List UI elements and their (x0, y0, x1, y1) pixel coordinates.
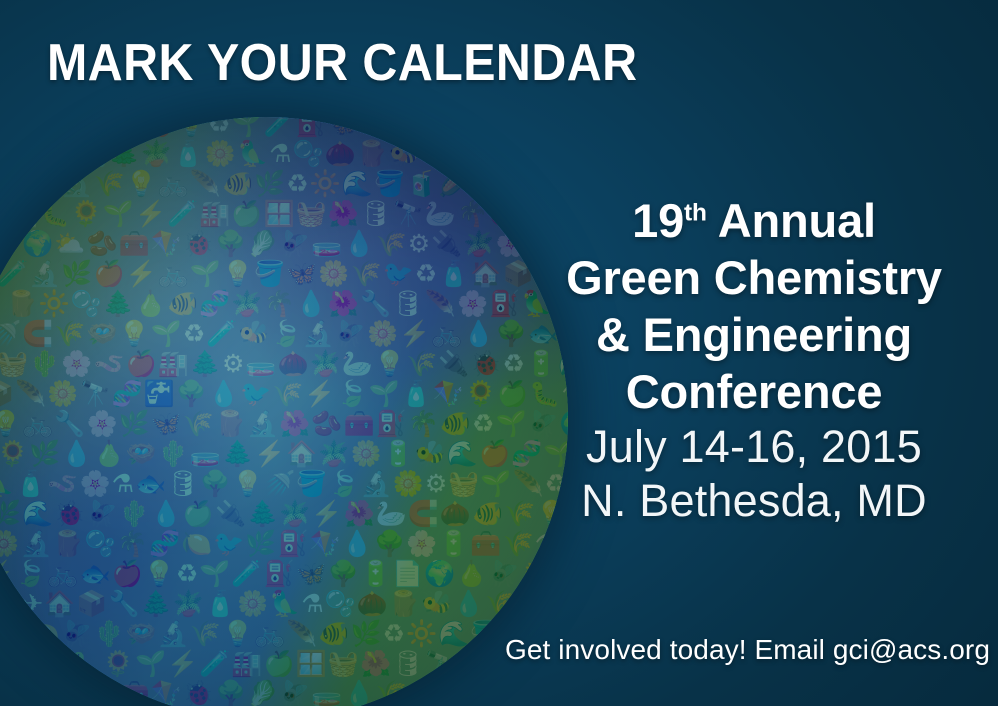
conference-name-line-2: & Engineering (548, 306, 960, 363)
page-title: MARK YOUR CALENDAR (47, 33, 637, 93)
conference-edition-line: 19th Annual (548, 192, 960, 249)
conference-location: N. Bethesda, MD (548, 474, 960, 528)
edition-ordinal-suffix: th (684, 199, 707, 226)
edition-number: 19 (632, 194, 684, 247)
conference-name-line-1: Green Chemistry (548, 249, 960, 306)
edition-annual-label: Annual (707, 194, 876, 247)
globe-icon-mosaic: 🌿🔬⚡🍃🚲🐟🍎💡♻🌱🧪⛽🦋🌳🔋📄🌍🍐🪰🌻🌿🔬⚡🍃🚲🐟🍎💡♻🌱🧪⛽🦋🌳🔋📄🌍🍐🪰🌻… (0, 117, 568, 706)
conference-name-line-3: Conference (548, 363, 960, 420)
conference-date: July 14-16, 2015 (548, 420, 960, 474)
globe-illustration: 🌿🔬⚡🍃🚲🐟🍎💡♻🌱🧪⛽🦋🌳🔋📄🌍🍐🪰🌻🌿🔬⚡🍃🚲🐟🍎💡♻🌱🧪⛽🦋🌳🔋📄🌍🍐🪰🌻… (0, 117, 568, 706)
contact-cta: Get involved today! Email gci@acs.org (505, 634, 990, 666)
promo-poster: 🌿🔬⚡🍃🚲🐟🍎💡♻🌱🧪⛽🦋🌳🔋📄🌍🍐🪰🌻🌿🔬⚡🍃🚲🐟🍎💡♻🌱🧪⛽🦋🌳🔋📄🌍🍐🪰🌻… (0, 0, 998, 706)
icon-mosaic-globe: 🌿🔬⚡🍃🚲🐟🍎💡♻🌱🧪⛽🦋🌳🔋📄🌍🍐🪰🌻🌿🔬⚡🍃🚲🐟🍎💡♻🌱🧪⛽🦋🌳🔋📄🌍🍐🪰🌻… (0, 117, 568, 706)
conference-title-block: 19th Annual Green Chemistry & Engineerin… (548, 192, 960, 528)
